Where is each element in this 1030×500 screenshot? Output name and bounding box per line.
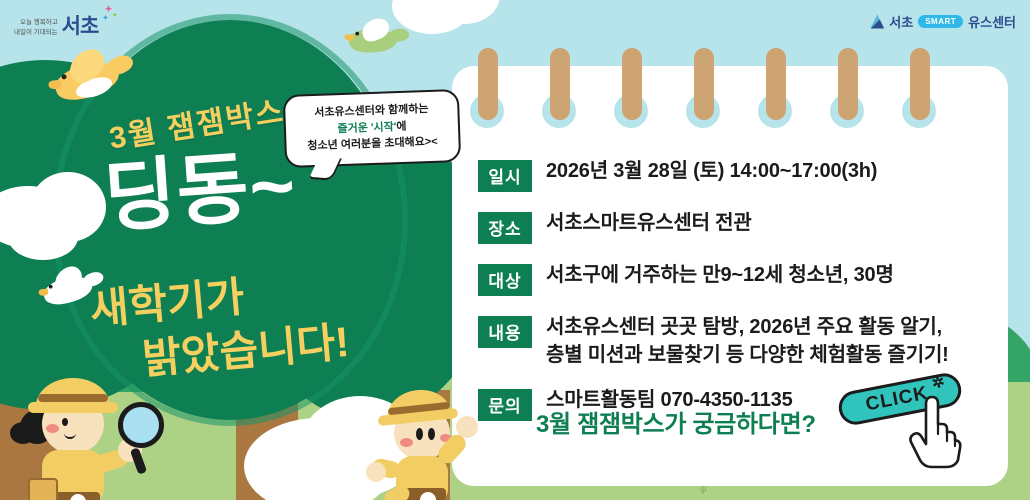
headline-subtitle-line1: 새학기가 — [88, 273, 246, 333]
sparkle-icon: ✦ — [112, 12, 116, 19]
smart-pill-badge: SMART — [918, 15, 963, 28]
detail-row-content: 내용 서초유스센터 곳곳 탐방, 2026년 주요 활동 알기, 층별 미션과 … — [478, 314, 998, 369]
logo-wordmark: 서초 ✦ ✦ ✦ — [62, 10, 99, 40]
invitation-speech-bubble: 서초유스센터와 함께하는 즐거운 '시작'에 청소년 여러분을 초대해요>< — [283, 89, 461, 168]
suitcase-icon — [28, 478, 58, 500]
poster-canvas: ψ ψ ψ 오늘 행복하고 내일이 기대되는 서초 ✦ ✦ ✦ 서초 SMART… — [0, 0, 1030, 500]
seocho-district-logo: 오늘 행복하고 내일이 기대되는 서초 ✦ ✦ ✦ — [14, 10, 98, 40]
page-title: 딩동~ — [102, 145, 299, 236]
sparkle-burst-icon: ✲ — [930, 372, 946, 392]
detail-value: 서초구에 거주하는 만9~12세 청소년, 30명 — [546, 262, 894, 290]
detail-value-line1: 서초유스센터 곳곳 탐방, 2026년 주요 활동 알기, — [546, 316, 942, 338]
detail-row-datetime: 일시 2026년 3월 28일 (토) 14:00~17:00(3h) — [478, 158, 998, 192]
youth-center-logo: 서초 SMART 유스센터 — [870, 12, 1016, 31]
youth-center-name-suffix: 유스센터 — [968, 12, 1016, 31]
detail-value-line1: 2026년 3월 28일 (토) 14:00~17:00(3h) — [546, 160, 877, 182]
sparkle-icon: ✦ — [102, 14, 107, 22]
cta-question-text: 3월 잼잼박스가 궁금하다면? — [536, 404, 816, 439]
headline-subtitle: 새학기가 밝았습니다! — [88, 261, 352, 390]
detail-row-audience: 대상 서초구에 거주하는 만9~12세 청소년, 30명 — [478, 262, 998, 296]
detail-value-line2: 층별 미션과 보물찾기 등 다양한 체험활동 즐기기! — [546, 342, 949, 370]
magnifying-glass-icon — [118, 402, 164, 448]
logo-wordmark-text: 서초 — [62, 15, 99, 38]
detail-tag: 문의 — [478, 389, 532, 421]
detail-value: 2026년 3월 28일 (토) 14:00~17:00(3h) — [546, 158, 877, 186]
detail-row-location: 장소 서초스마트유스센터 전관 — [478, 210, 998, 244]
detail-value-line1: 서초스마트유스센터 전관 — [546, 212, 752, 234]
logo-slogan: 오늘 행복하고 내일이 기대되는 — [14, 18, 58, 37]
detail-tag: 내용 — [478, 316, 532, 348]
detail-tag: 일시 — [478, 160, 532, 192]
notepad-binding-rings — [452, 42, 1008, 102]
building-icon — [870, 15, 884, 29]
detail-tag: 장소 — [478, 212, 532, 244]
detail-tag: 대상 — [478, 264, 532, 296]
detail-value-line1: 서초구에 거주하는 만9~12세 청소년, 30명 — [546, 264, 894, 286]
youth-center-name-prefix: 서초 — [889, 12, 913, 31]
detail-value: 서초스마트유스센터 전관 — [546, 210, 752, 238]
girl-explorer-character — [6, 374, 166, 500]
bubble-line-2-highlight: 즐거운 '시작' — [337, 121, 396, 135]
logo-slogan-line1: 오늘 행복하고 — [14, 18, 58, 27]
logo-slogan-line2: 내일이 기대되는 — [14, 28, 58, 37]
boy-explorer-character — [364, 388, 484, 500]
bubble-line-2-tail: 에 — [396, 120, 407, 132]
detail-value: 서초유스센터 곳곳 탐방, 2026년 주요 활동 알기, 층별 미션과 보물찾… — [546, 314, 949, 369]
pointing-hand-icon — [908, 394, 962, 470]
